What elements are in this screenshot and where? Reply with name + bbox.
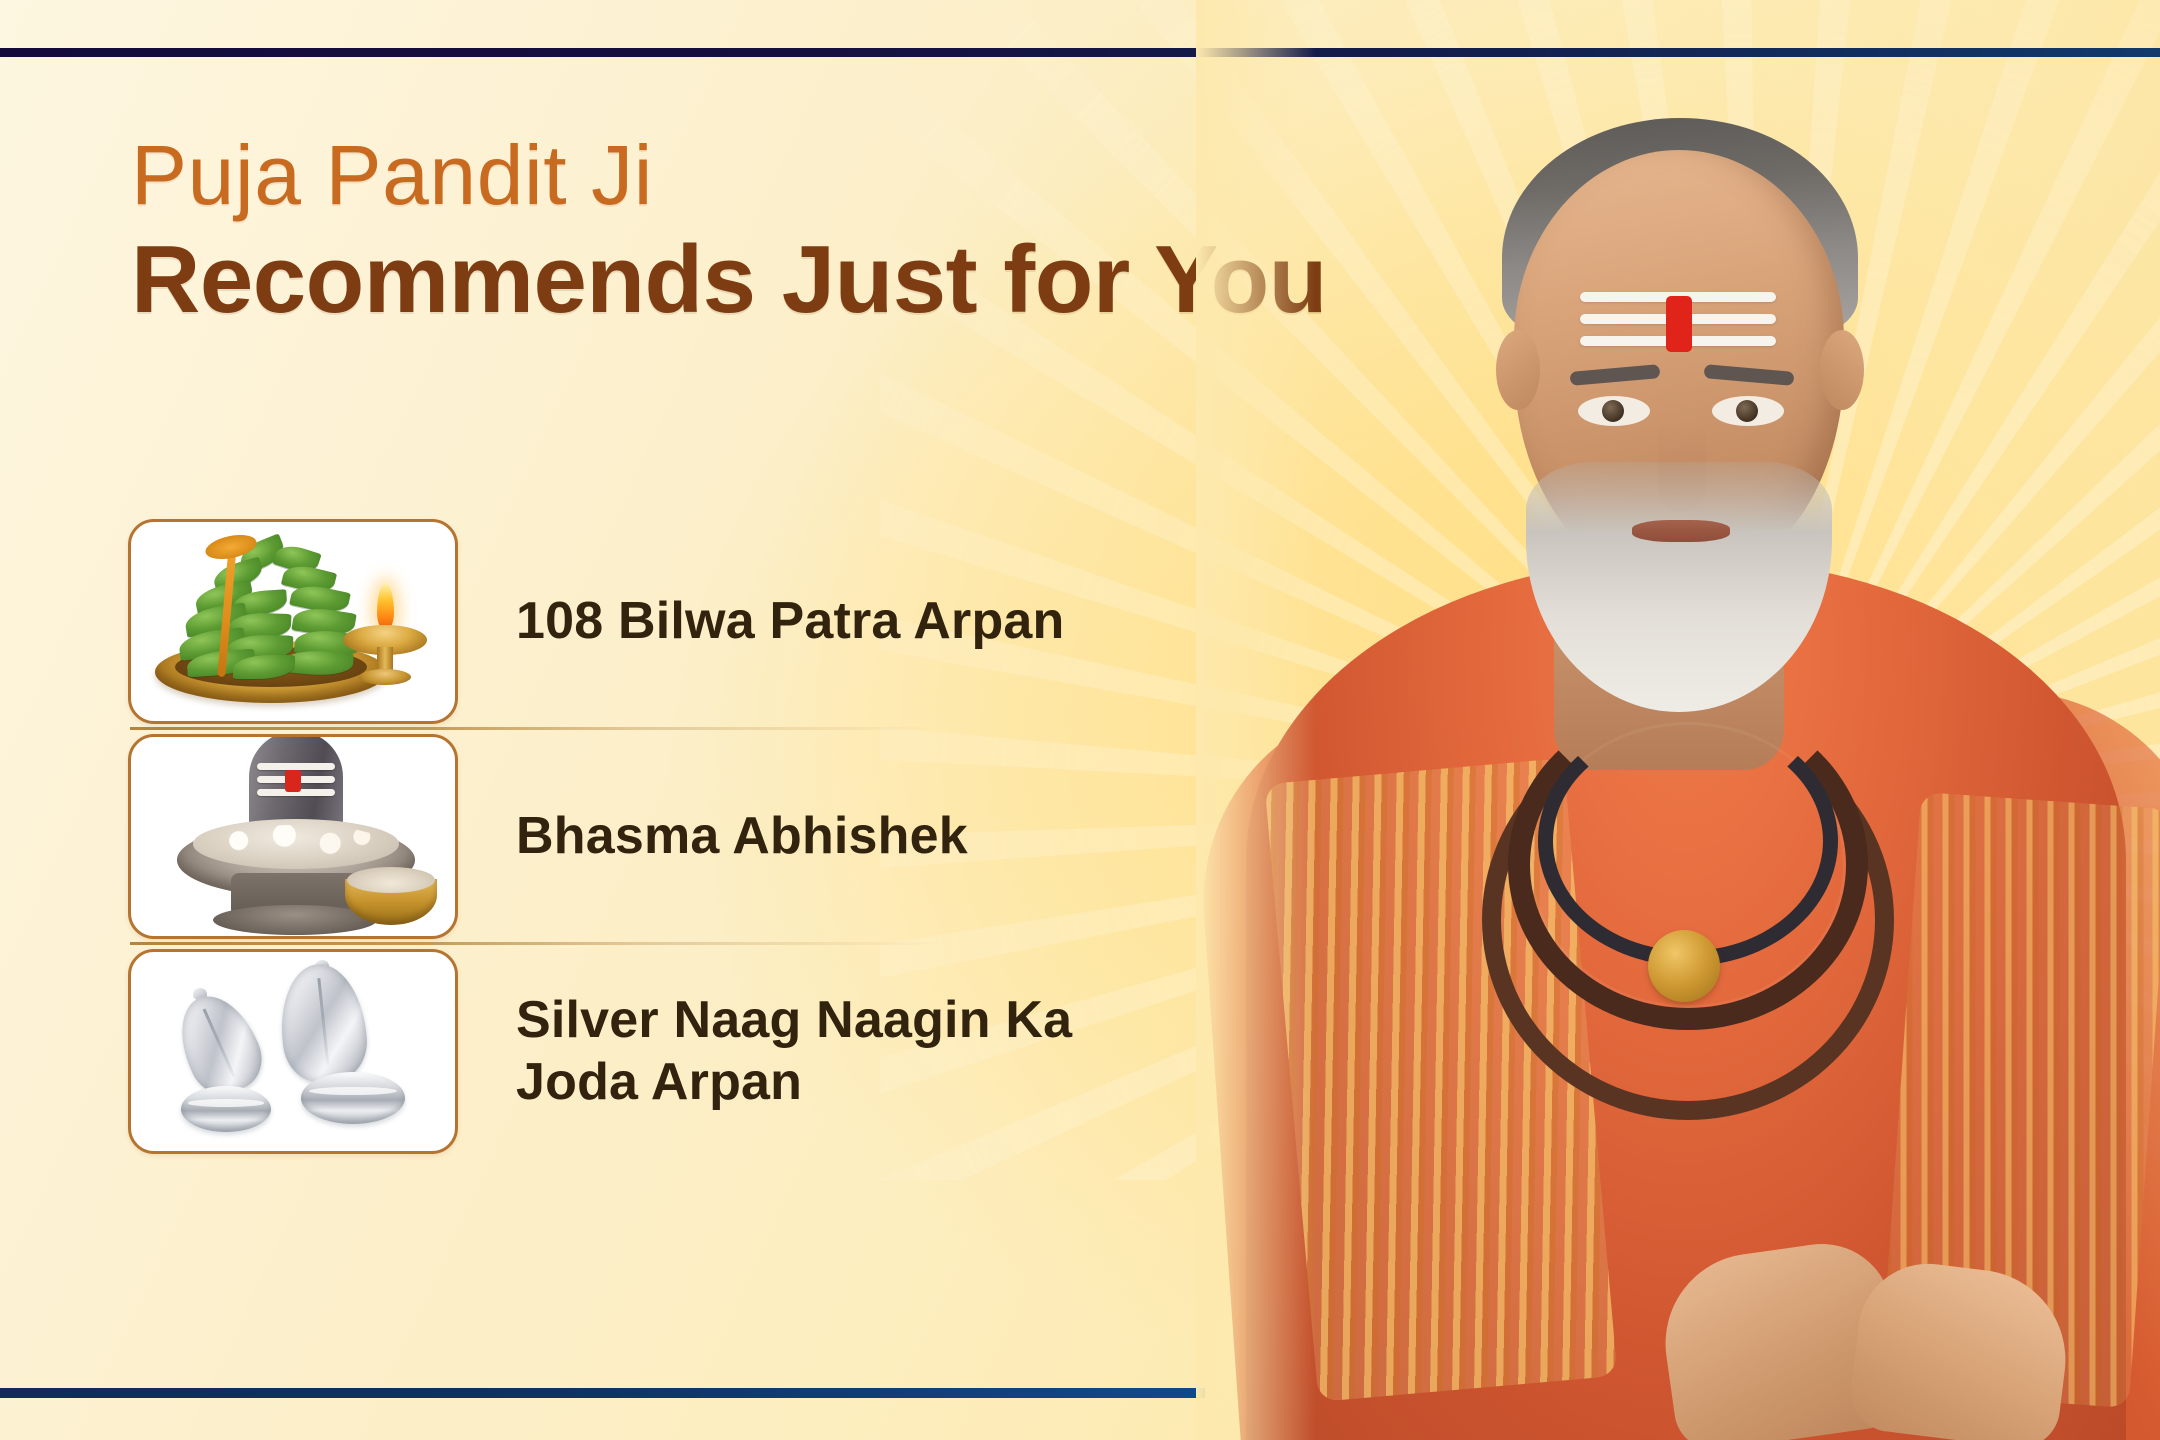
- portrait-alt-text: Pandit in saffron robes with white tripu…: [0, 0, 1, 1]
- list-item[interactable]: Silver Naag Naagin Ka Joda Arpan: [128, 945, 1128, 1157]
- eye-right: [1712, 396, 1784, 426]
- bilwa-patra-plate-thumbnail: [128, 519, 458, 724]
- red-tilak-dot: [285, 770, 301, 792]
- bottom-divider-rule: [0, 1388, 1205, 1398]
- recommendation-banner: Puja Pandit Ji Recommends Just for You: [0, 0, 2160, 1440]
- ear-right: [1820, 330, 1864, 410]
- list-item-label: Silver Naag Naagin Ka Joda Arpan: [516, 989, 1116, 1114]
- eye-left: [1578, 396, 1650, 426]
- forehead-tilak: [1666, 296, 1692, 352]
- silver-naag-naagin-thumbnail: [128, 949, 458, 1154]
- list-item[interactable]: Bhasma Abhishek: [128, 730, 1128, 942]
- diya-flame: [377, 583, 394, 631]
- list-item-label: 108 Bilwa Patra Arpan: [516, 590, 1065, 652]
- diya-base: [359, 669, 411, 685]
- naagin-hood: [275, 959, 371, 1085]
- naag-coil-base: [181, 1086, 271, 1132]
- bhasma-shivling-thumbnail: [128, 734, 458, 939]
- bhasma-ash-heap: [193, 819, 399, 869]
- recommendation-list: 108 Bilwa Patra Arpan Bhasma Abhishek: [128, 515, 1128, 1157]
- portrait-left-fade: [1196, 0, 1316, 1440]
- pandit-portrait: [1196, 0, 2160, 1440]
- list-item[interactable]: 108 Bilwa Patra Arpan: [128, 515, 1128, 727]
- bilwa-leaf-heap: [179, 539, 363, 677]
- gold-pendant: [1648, 930, 1720, 1002]
- naagin-coil-base: [301, 1072, 405, 1124]
- list-item-label: Bhasma Abhishek: [516, 805, 968, 867]
- bead-mala-inner: [1538, 716, 1838, 966]
- brass-diya-lamp: [343, 581, 427, 685]
- ear-left: [1496, 330, 1540, 410]
- silver-naagin-right: [271, 960, 421, 1150]
- mouth: [1632, 520, 1730, 542]
